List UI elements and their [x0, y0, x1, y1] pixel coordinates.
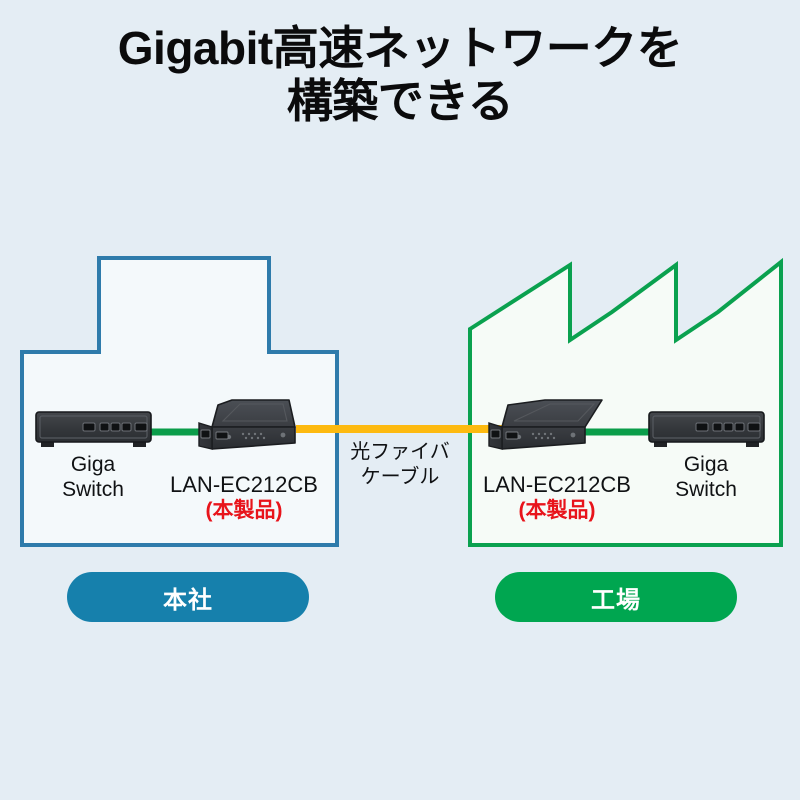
converter-right-note: (本製品)	[472, 498, 642, 524]
label-fiber-optic-cable: 光ファイバ ケーブル	[333, 440, 467, 490]
diagram-canvas: Gigabit高速ネットワークを 構築できる	[0, 0, 800, 800]
site-badge-factory[interactable]: 工場	[495, 572, 737, 622]
converter-left-note: (本製品)	[159, 498, 329, 524]
fiber-label-line2: ケーブル	[333, 465, 467, 490]
site-badge-headquarters[interactable]: 本社	[67, 572, 309, 622]
giga-switch-right-line1: Giga	[646, 452, 766, 477]
giga-switch-right	[649, 412, 764, 447]
label-giga-switch-left: Giga Switch	[33, 452, 153, 502]
giga-switch-right-line2: Switch	[646, 477, 766, 502]
network-topology-illustration	[0, 0, 800, 800]
fiber-label-line1: 光ファイバ	[333, 440, 467, 465]
giga-switch-left-line1: Giga	[33, 452, 153, 477]
site-badge-headquarters-label: 本社	[163, 580, 213, 615]
converter-left-model: LAN-EC212CB	[159, 472, 329, 498]
giga-switch-left	[36, 412, 151, 447]
converter-right-model: LAN-EC212CB	[472, 472, 642, 498]
label-media-converter-right: LAN-EC212CB (本製品)	[472, 472, 642, 524]
giga-switch-left-line2: Switch	[33, 477, 153, 502]
label-media-converter-left: LAN-EC212CB (本製品)	[159, 472, 329, 524]
site-badge-factory-label: 工場	[591, 580, 641, 615]
label-giga-switch-right: Giga Switch	[646, 452, 766, 502]
